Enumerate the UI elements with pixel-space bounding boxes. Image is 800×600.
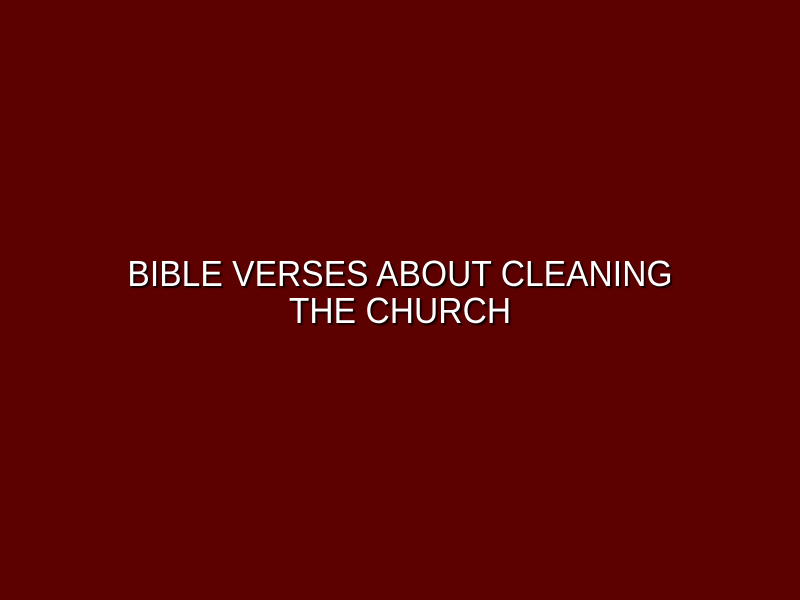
- title-block: BIBLE VERSES ABOUT CLEANING THE CHURCH: [0, 255, 800, 329]
- page-title: BIBLE VERSES ABOUT CLEANING THE CHURCH: [102, 255, 697, 329]
- featured-image-card: BIBLE VERSES ABOUT CLEANING THE CHURCH: [0, 0, 800, 600]
